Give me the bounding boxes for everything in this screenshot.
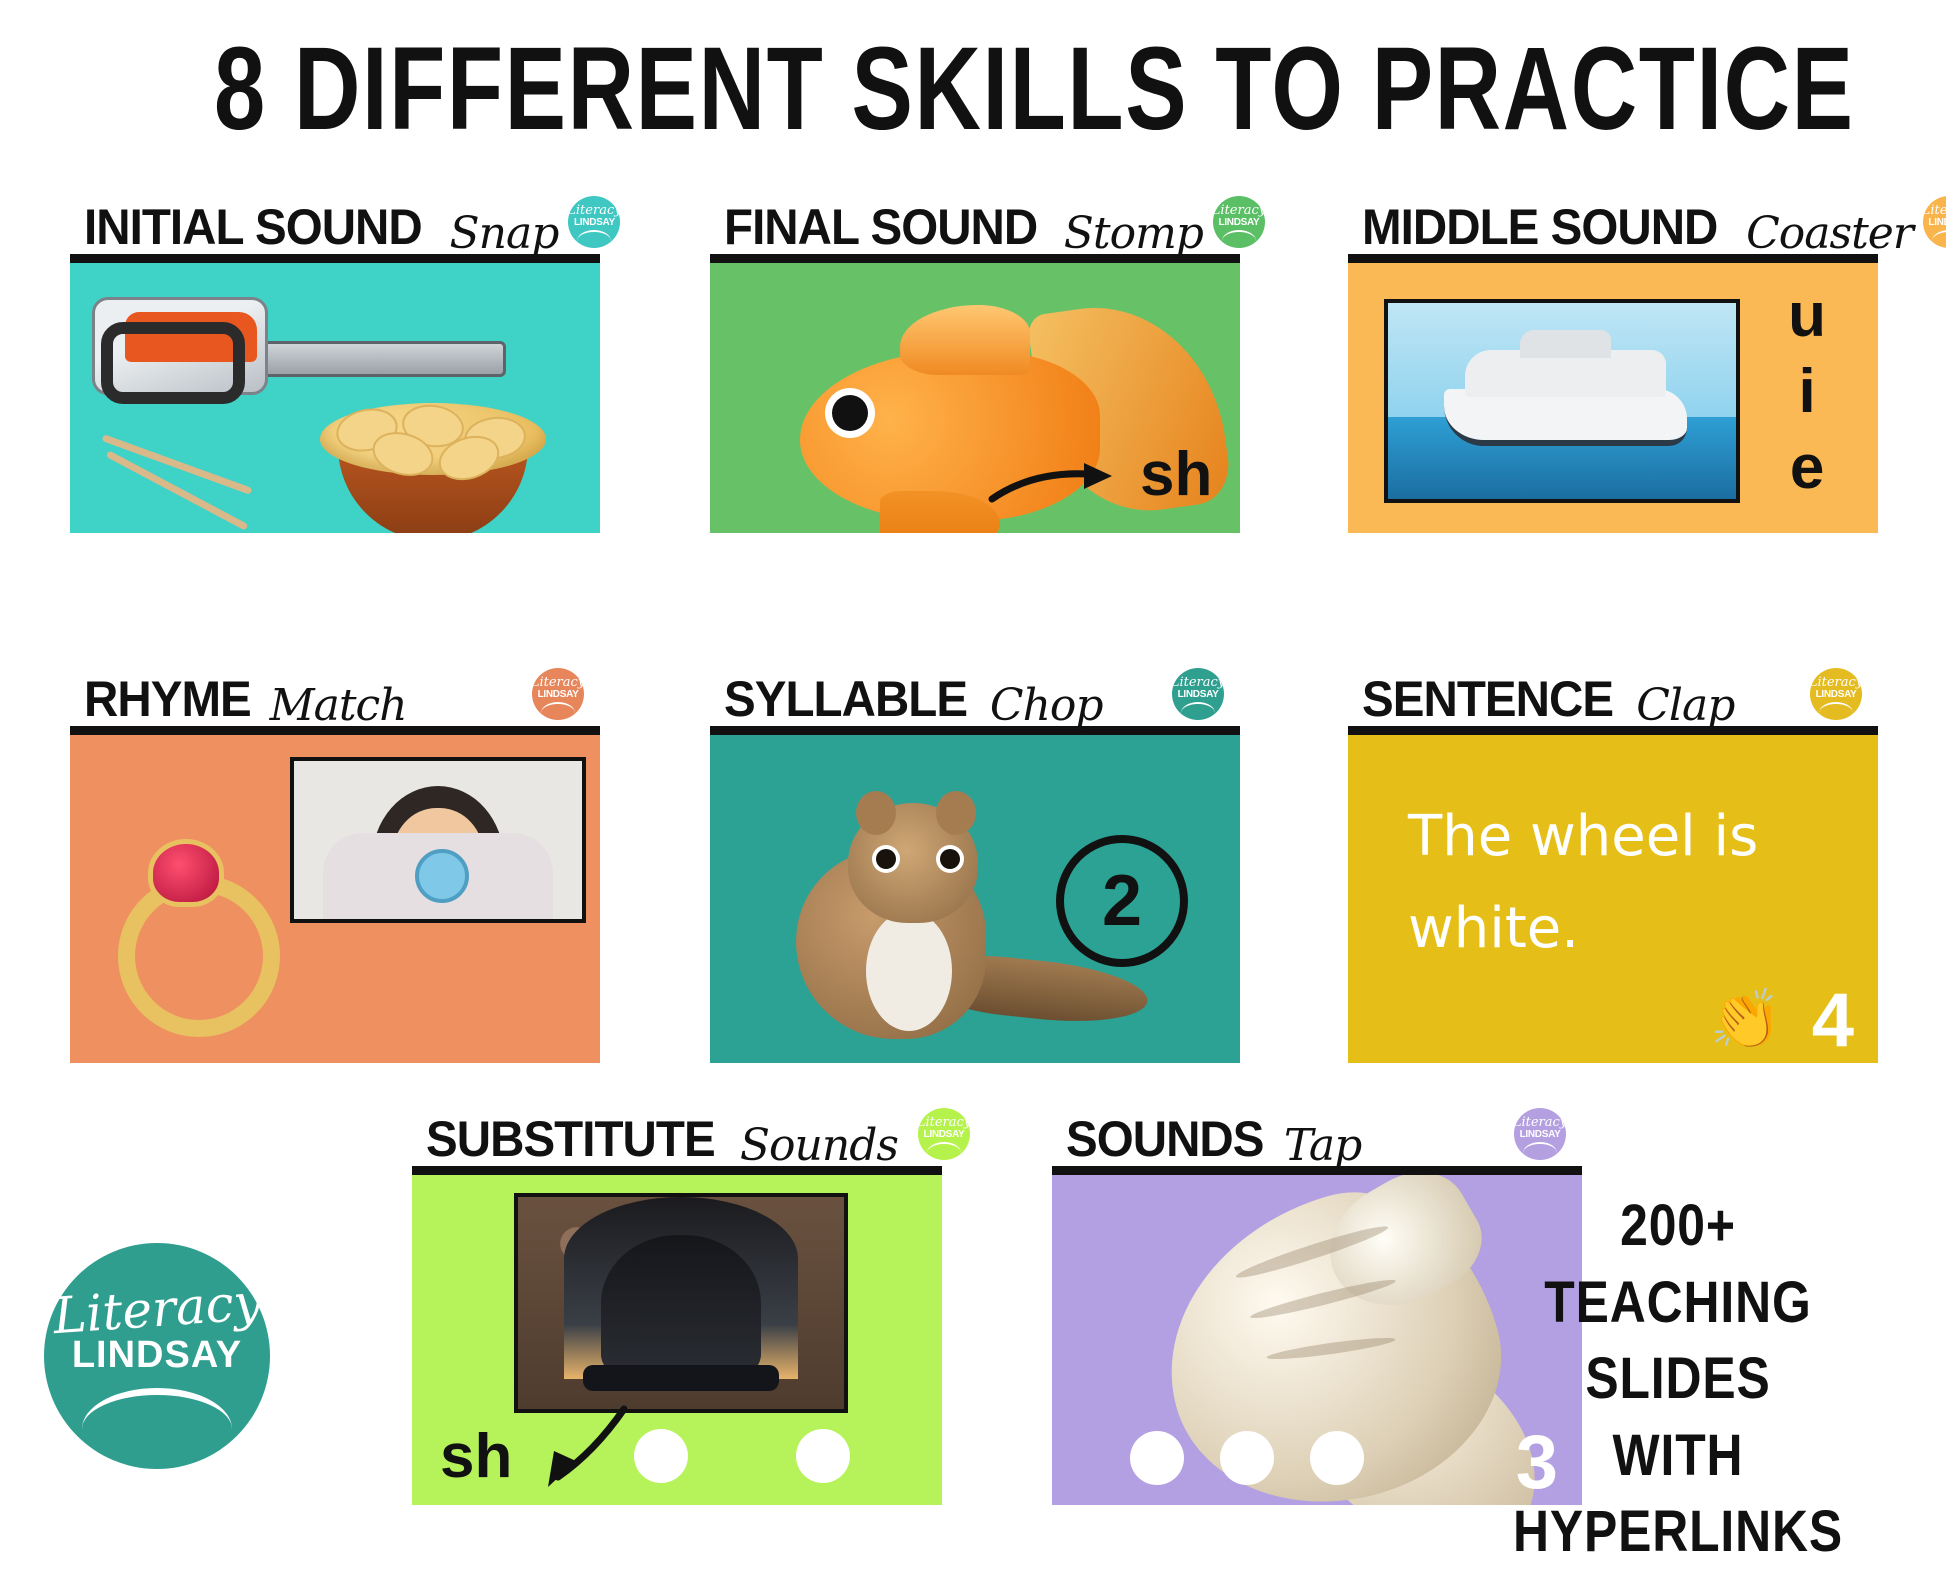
chipmunk-eye bbox=[940, 849, 960, 869]
card-header: SOUNDS Tap Literacy LINDSAY bbox=[1052, 1100, 1582, 1166]
literacy-and-lindsay-logo: Literacy LINDSAY bbox=[44, 1243, 270, 1469]
card-script-word: Clap bbox=[1636, 684, 1734, 728]
card-title: SENTENCE bbox=[1362, 674, 1613, 724]
card-title: INITIAL SOUND bbox=[84, 202, 422, 252]
brand-badge-icon: Literacy LINDSAY bbox=[568, 196, 620, 248]
final-sound-label: sh bbox=[1140, 439, 1212, 510]
vowel-option-e[interactable]: e bbox=[1790, 437, 1824, 499]
badge-block-text: LINDSAY bbox=[1928, 218, 1946, 228]
card-title: SUBSTITUTE bbox=[426, 1114, 715, 1164]
card-middle-sound-coaster[interactable]: MIDDLE SOUND Coaster Literacy LINDSAY u … bbox=[1348, 188, 1878, 508]
card-rhyme-match[interactable]: RHYME Match Literacy LINDSAY bbox=[70, 660, 600, 1060]
card-script-word: Match bbox=[270, 684, 407, 728]
badge-block-text: LINDSAY bbox=[574, 218, 615, 228]
card-body bbox=[70, 263, 600, 533]
open-book-icon bbox=[1181, 702, 1215, 713]
card-script-word: Coaster bbox=[1746, 212, 1913, 256]
cruise-ship-photo bbox=[1384, 299, 1740, 503]
card-header: SENTENCE Clap Literacy LINDSAY bbox=[1348, 660, 1878, 726]
card-header: MIDDLE SOUND Coaster Literacy LINDSAY bbox=[1348, 188, 1878, 254]
badge-script-text: Literacy bbox=[1923, 204, 1946, 217]
ship-superstructure bbox=[1520, 330, 1610, 357]
card-body: The wheel is white. 👏 4 bbox=[1348, 735, 1878, 1063]
promo-line-3: WITH HYPERLINKS bbox=[1472, 1418, 1885, 1571]
badge-script-text: Literacy bbox=[532, 676, 584, 689]
vowel-option-i[interactable]: i bbox=[1798, 361, 1815, 423]
ring-image bbox=[118, 839, 288, 1019]
open-book-icon bbox=[577, 230, 611, 241]
sound-dot[interactable] bbox=[796, 1429, 850, 1483]
badge-script-text: Literacy bbox=[1213, 204, 1265, 217]
ship-hull bbox=[1444, 389, 1688, 446]
card-title: RHYME bbox=[84, 674, 251, 724]
word-count: 4 bbox=[1812, 983, 1854, 1059]
ring-gem bbox=[148, 839, 224, 907]
fish-eye bbox=[832, 395, 868, 431]
promo-line-1: 200+ bbox=[1472, 1188, 1885, 1265]
card-substitute-sounds[interactable]: SUBSTITUTE Sounds Literacy LINDSAY sh bbox=[412, 1100, 942, 1500]
card-title: SYLLABLE bbox=[724, 674, 967, 724]
card-body: sh bbox=[710, 263, 1240, 533]
badge-block-text: LINDSAY bbox=[1178, 690, 1219, 700]
card-body bbox=[70, 735, 600, 1063]
open-book-icon bbox=[541, 702, 575, 713]
card-script-word: Tap bbox=[1284, 1124, 1361, 1168]
open-book-icon bbox=[927, 1142, 961, 1153]
pointing-arrow-icon bbox=[528, 1401, 638, 1493]
card-body: sh bbox=[412, 1175, 942, 1505]
substitute-label: sh bbox=[440, 1421, 512, 1492]
badge-block-text: LINDSAY bbox=[1816, 690, 1857, 700]
clapping-hands-icon: 👏 bbox=[1710, 991, 1782, 1049]
brand-badge-icon: Literacy LINDSAY bbox=[918, 1108, 970, 1160]
girl-singing-photo bbox=[290, 757, 586, 923]
card-header: SUBSTITUTE Sounds Literacy LINDSAY bbox=[412, 1100, 942, 1166]
syllable-count-circle: 2 bbox=[1056, 835, 1188, 967]
sound-dot[interactable] bbox=[1310, 1431, 1364, 1485]
badge-block-text: LINDSAY bbox=[924, 1130, 965, 1140]
card-script-word: Snap bbox=[450, 212, 559, 256]
bowl-of-chips-image bbox=[80, 263, 550, 533]
brand-badge-icon: Literacy LINDSAY bbox=[1213, 196, 1265, 248]
fish-dorsal-fin bbox=[900, 305, 1030, 375]
bell-photo bbox=[514, 1193, 848, 1413]
bell bbox=[601, 1235, 761, 1377]
sound-dot[interactable] bbox=[634, 1429, 688, 1483]
badge-script-text: Literacy bbox=[918, 1116, 970, 1129]
open-book-icon bbox=[1932, 230, 1946, 241]
promo-line-2: TEACHING SLIDES bbox=[1472, 1265, 1885, 1418]
badge-script-text: Literacy bbox=[1514, 1116, 1566, 1129]
brand-badge-icon: Literacy LINDSAY bbox=[1514, 1108, 1566, 1160]
card-body: u i e bbox=[1348, 263, 1878, 533]
badge-block-text: LINDSAY bbox=[1219, 218, 1260, 228]
open-book-icon bbox=[1523, 1142, 1557, 1153]
pointing-arrow-icon bbox=[988, 459, 1128, 513]
vowel-choices[interactable]: u i e bbox=[1788, 285, 1826, 499]
logo-script-text: Literacy bbox=[51, 1276, 263, 1340]
badge-block-text: LINDSAY bbox=[538, 690, 579, 700]
card-initial-sound-snap[interactable]: INITIAL SOUND Snap Literacy LINDSAY bbox=[70, 188, 600, 508]
chipmunk-eye bbox=[876, 849, 896, 869]
card-script-word: Sounds bbox=[740, 1124, 898, 1168]
vowel-option-u[interactable]: u bbox=[1788, 285, 1826, 347]
chips bbox=[320, 403, 546, 475]
card-divider bbox=[710, 726, 1240, 735]
sound-dot[interactable] bbox=[1220, 1431, 1274, 1485]
sound-dot[interactable] bbox=[1130, 1431, 1184, 1485]
badge-script-text: Literacy bbox=[568, 204, 620, 217]
card-header: FINAL SOUND Stomp Literacy LINDSAY bbox=[710, 188, 1240, 254]
promo-text: 200+ TEACHING SLIDES WITH HYPERLINKS bbox=[1472, 1188, 1885, 1571]
card-sentence-clap[interactable]: SENTENCE Clap Literacy LINDSAY The wheel… bbox=[1348, 660, 1878, 1060]
card-header: RHYME Match Literacy LINDSAY bbox=[70, 660, 600, 726]
open-book-icon bbox=[82, 1388, 232, 1429]
chipmunk-ear bbox=[936, 791, 976, 835]
card-title: SOUNDS bbox=[1066, 1114, 1264, 1164]
card-syllable-chop[interactable]: SYLLABLE Chop Literacy LINDSAY 2 bbox=[710, 660, 1240, 1060]
badge-script-text: Literacy bbox=[1810, 676, 1862, 689]
card-title: MIDDLE SOUND bbox=[1362, 202, 1717, 252]
card-script-word: Chop bbox=[990, 684, 1103, 728]
brand-badge-icon: Literacy LINDSAY bbox=[532, 668, 584, 720]
open-book-icon bbox=[1222, 230, 1256, 241]
badge-script-text: Literacy bbox=[1172, 676, 1224, 689]
card-divider bbox=[1348, 726, 1878, 735]
brand-badge-icon: Literacy LINDSAY bbox=[1923, 196, 1946, 248]
brand-badge-icon: Literacy LINDSAY bbox=[1172, 668, 1224, 720]
badge-block-text: LINDSAY bbox=[1520, 1130, 1561, 1140]
brand-badge-icon: Literacy LINDSAY bbox=[1810, 668, 1862, 720]
bell-rim bbox=[583, 1365, 779, 1391]
chipmunk-ear bbox=[856, 791, 896, 835]
card-final-sound-stomp[interactable]: FINAL SOUND Stomp Literacy LINDSAY sh bbox=[710, 188, 1240, 508]
chipmunk-belly bbox=[866, 911, 952, 1031]
open-book-icon bbox=[1819, 702, 1853, 713]
sentence-text: The wheel is white. bbox=[1408, 791, 1800, 976]
card-header: SYLLABLE Chop Literacy LINDSAY bbox=[710, 660, 1240, 726]
card-title: FINAL SOUND bbox=[724, 202, 1037, 252]
card-body: 2 bbox=[710, 735, 1240, 1063]
card-header: INITIAL SOUND Snap Literacy LINDSAY bbox=[70, 188, 600, 254]
microphone bbox=[415, 849, 469, 903]
card-script-word: Stomp bbox=[1064, 212, 1203, 256]
